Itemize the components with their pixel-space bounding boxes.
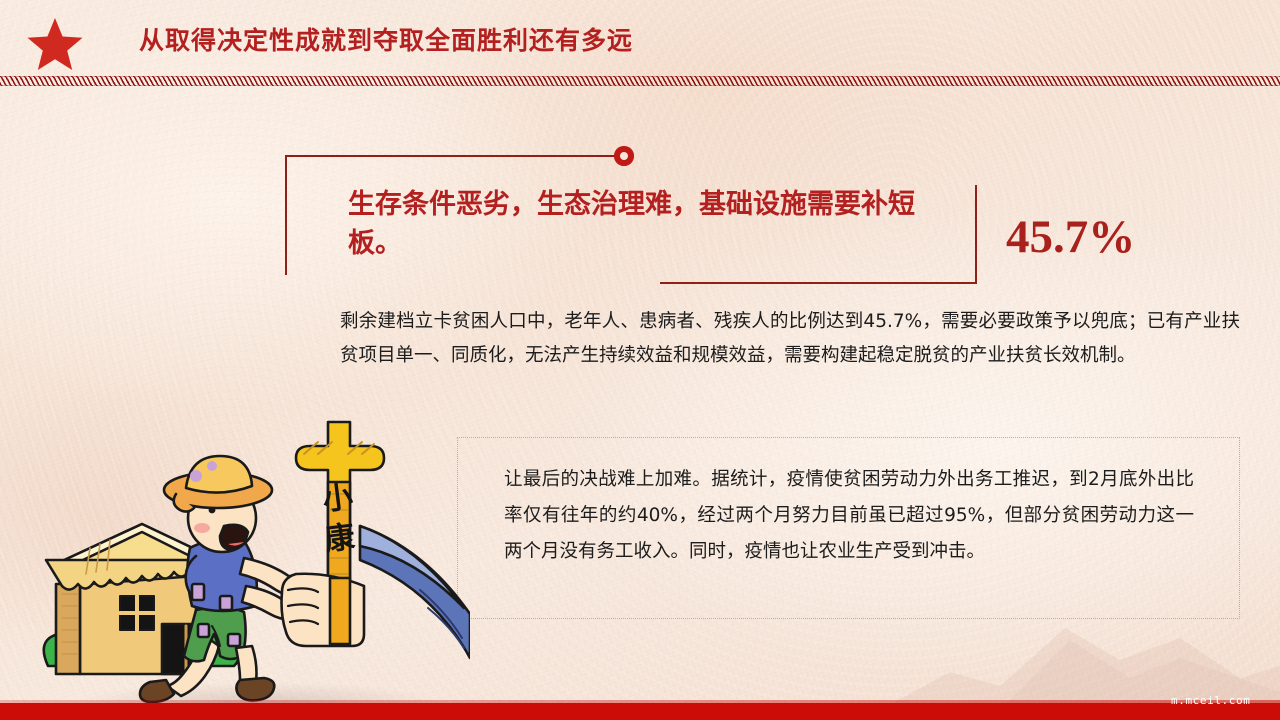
callout-headline: 生存条件恶劣，生态治理难，基础设施需要补短板。 [348,186,928,264]
page-title: 从取得决定性成就到夺取全面胜利还有多远 [139,21,633,57]
signpost-label-xiao: 小 [321,480,355,518]
stat-percentage: 45.7% [1006,210,1135,264]
note-box: 让最后的决战难上加难。据统计，疫情使贫困劳动力外出务工推迟，到2月底外出比率仅有… [457,437,1240,619]
body-paragraph: 剩余建档立卡贫困人口中，老年人、患病者、残疾人的比例达到45.7%，需要必要政策… [340,305,1240,374]
slide-header: 从取得决定性成就到夺取全面胜利还有多远 [0,0,1280,74]
red-star-icon [27,17,83,71]
note-box-text: 让最后的决战难上加难。据统计，疫情使贫困劳动力外出务工推迟，到2月底外出比率仅有… [504,462,1194,570]
blue-sleeve-arm-icon [360,526,470,658]
slide-canvas: 从取得决定性成就到夺取全面胜利还有多远 生存条件恶劣，生态治理难，基础设施需要补… [0,0,1280,720]
xiaokang-signpost-illustration: 小 康 [0,398,470,710]
signpost-label-kang: 康 [323,519,358,558]
red-dot-marker-icon [614,146,634,166]
footer-red-bar [0,703,1280,720]
header-divider [0,76,1280,86]
watermark: m.mceil.com [1171,694,1250,707]
